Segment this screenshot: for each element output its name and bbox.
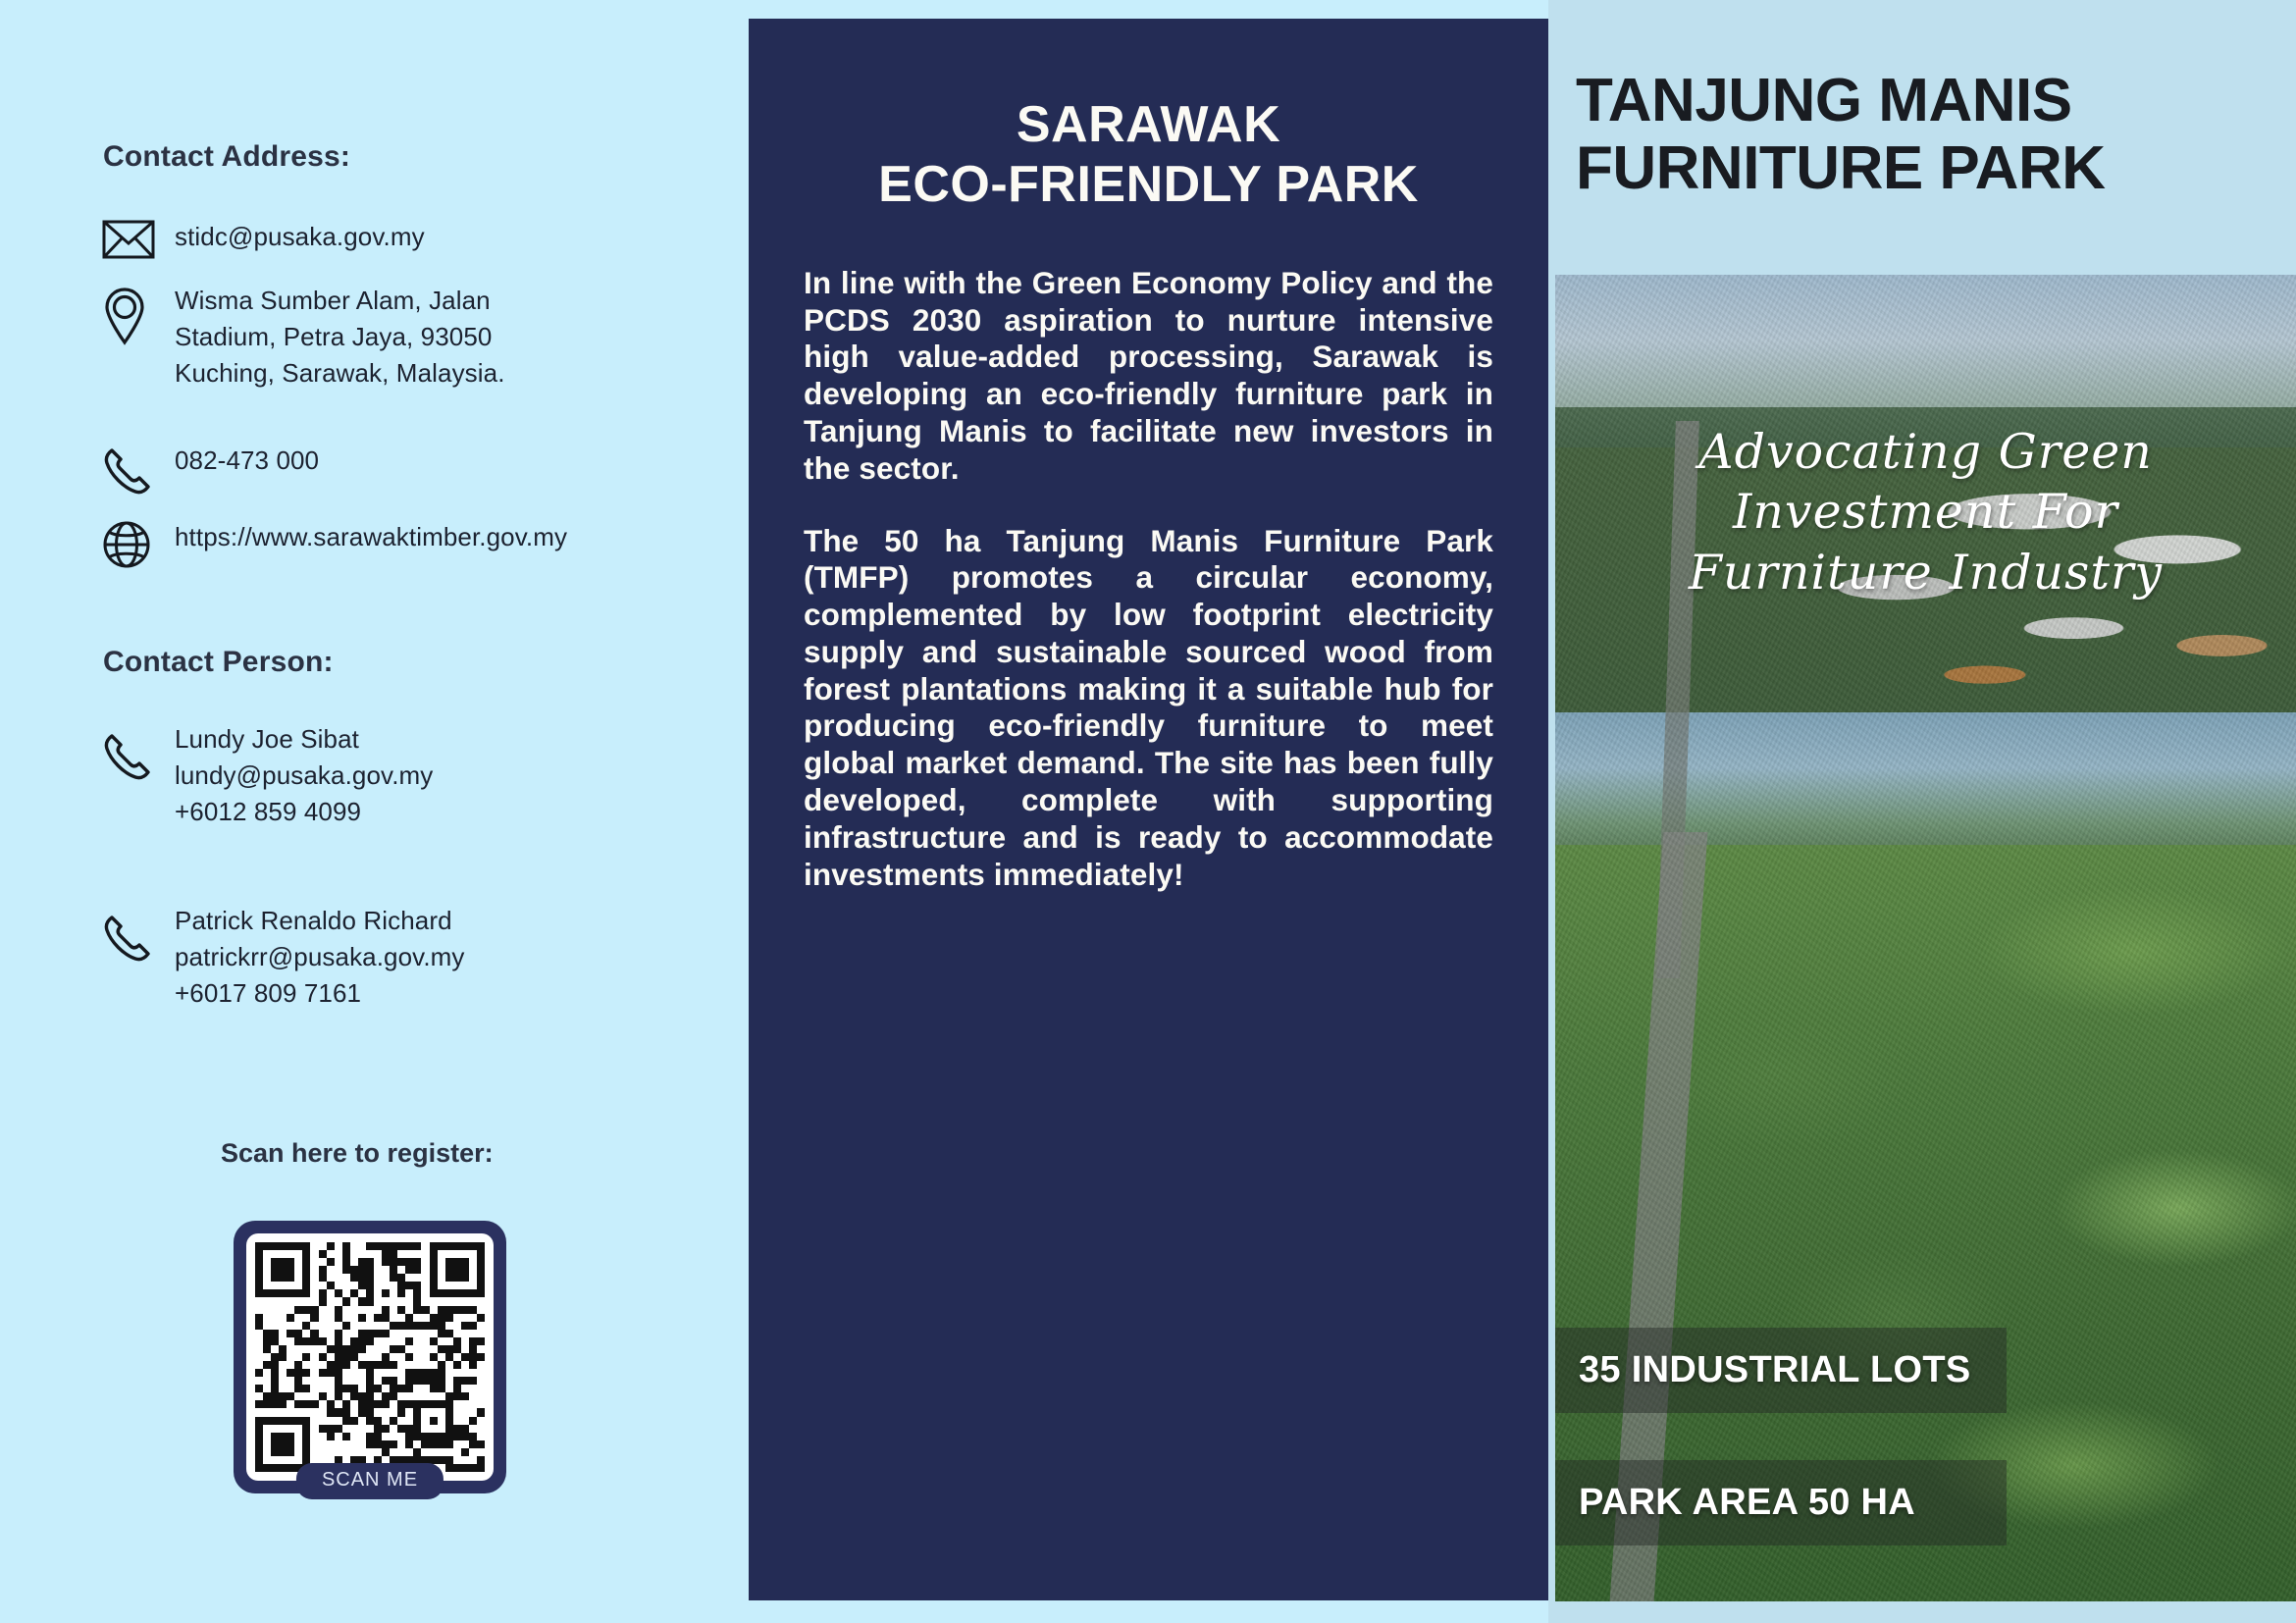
person-2-email[interactable]: patrickrr@pusaka.gov.my — [175, 939, 465, 975]
contact-website-row: https://www.sarawaktimber.gov.my — [98, 518, 567, 569]
contact-website[interactable]: https://www.sarawaktimber.gov.my — [175, 518, 567, 550]
person-2-name: Patrick Renaldo Richard — [175, 903, 465, 939]
contact-person-2-row: Patrick Renaldo Richard patrickrr@pusaka… — [98, 903, 465, 1012]
phone-icon — [98, 721, 175, 782]
phone-icon — [98, 903, 175, 964]
contact-email-row: stidc@pusaka.gov.my — [98, 218, 425, 259]
cover-panel: TANJUNG MANIS FURNITURE PARK Advocating … — [1548, 0, 2296, 1623]
contact-phone-row: 082-473 000 — [98, 442, 319, 497]
location-pin-icon — [98, 283, 175, 345]
contact-address-row: Wisma Sumber Alam, Jalan Stadium, Petra … — [98, 283, 648, 392]
tagline-line-1: Advocating Green Investment For — [1698, 424, 2153, 540]
brochure-page: Contact Address: stidc@pusaka.gov.my — [0, 0, 2296, 1623]
contact-person-1-row: Lundy Joe Sibat lundy@pusaka.gov.my +601… — [98, 721, 433, 830]
phone-icon — [98, 442, 175, 497]
contact-email[interactable]: stidc@pusaka.gov.my — [175, 218, 425, 249]
tagline-line-2: Furniture Industry — [1555, 543, 2296, 602]
stat-park-area: PARK AREA 50 HA — [1555, 1460, 2007, 1545]
tagline: Advocating Green Investment For Furnitur… — [1555, 422, 2296, 602]
contact-panel: Contact Address: stidc@pusaka.gov.my — [0, 0, 749, 1623]
description-paragraph-2: The 50 ha Tanjung Manis Furniture Park (… — [804, 523, 1493, 894]
description-panel: SARAWAK ECO-FRIENDLY PARK In line with t… — [749, 19, 1548, 1600]
park-title-line-2: FURNITURE PARK — [1576, 134, 2278, 202]
park-title: TANJUNG MANIS FURNITURE PARK — [1576, 67, 2278, 203]
eco-park-title-line-2: ECO-FRIENDLY PARK — [804, 155, 1493, 215]
globe-icon — [98, 518, 175, 569]
person-1-name: Lundy Joe Sibat — [175, 721, 433, 758]
envelope-icon — [98, 218, 175, 259]
description-paragraph-1: In line with the Green Economy Policy an… — [804, 265, 1493, 488]
qr-code[interactable]: SCAN ME — [234, 1221, 506, 1493]
eco-park-title: SARAWAK ECO-FRIENDLY PARK — [804, 95, 1493, 216]
contact-address: Wisma Sumber Alam, Jalan Stadium, Petra … — [175, 283, 648, 392]
contact-phone[interactable]: 082-473 000 — [175, 442, 319, 473]
contact-address-heading: Contact Address: — [103, 140, 350, 174]
eco-park-title-line-1: SARAWAK — [1017, 96, 1280, 153]
eco-park-description: In line with the Green Economy Policy an… — [804, 265, 1493, 894]
address-line-1: Wisma Sumber Alam, Jalan — [175, 283, 648, 319]
person-2-phone[interactable]: +6017 809 7161 — [175, 975, 465, 1012]
person-1-phone[interactable]: +6012 859 4099 — [175, 794, 433, 830]
park-title-line-1: TANJUNG MANIS — [1576, 67, 2072, 134]
contact-person-heading: Contact Person: — [103, 646, 334, 679]
aerial-park-photo: Advocating Green Investment For Furnitur… — [1555, 275, 2296, 1601]
address-line-2: Stadium, Petra Jaya, 93050 — [175, 319, 648, 355]
stat-industrial-lots: 35 INDUSTRIAL LOTS — [1555, 1328, 2007, 1413]
qr-code-image — [246, 1233, 494, 1481]
scan-me-badge: SCAN ME — [296, 1463, 444, 1499]
qr-code-modules — [255, 1242, 485, 1472]
address-line-3: Kuching, Sarawak, Malaysia. — [175, 355, 648, 392]
contact-person-2: Patrick Renaldo Richard patrickrr@pusaka… — [175, 903, 465, 1012]
scan-here-heading: Scan here to register: — [221, 1138, 494, 1169]
person-1-email[interactable]: lundy@pusaka.gov.my — [175, 758, 433, 794]
contact-person-1: Lundy Joe Sibat lundy@pusaka.gov.my +601… — [175, 721, 433, 830]
